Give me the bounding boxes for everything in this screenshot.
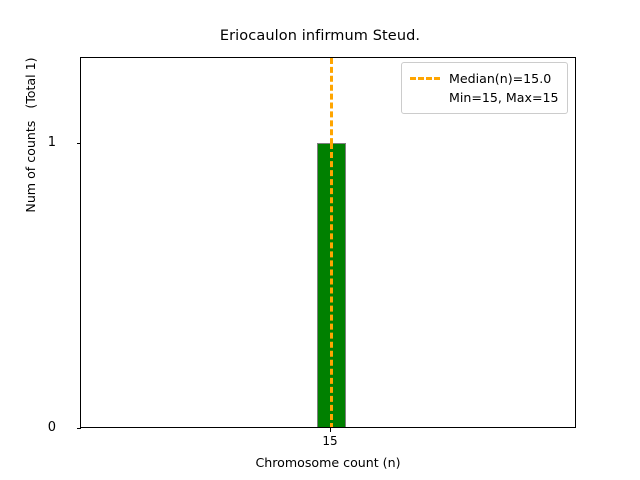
legend-dashed-line-icon xyxy=(410,77,440,80)
legend: Median(n)=15.0 Min=15, Max=15 xyxy=(401,62,568,114)
median-line-overlay xyxy=(330,143,333,428)
y-tick-label-1: 1 xyxy=(16,136,56,149)
legend-label-minmax: Min=15, Max=15 xyxy=(449,90,559,105)
legend-entry-minmax: Min=15, Max=15 xyxy=(410,88,559,107)
y-axis-label: Num of counts (Total 1) xyxy=(23,57,38,212)
legend-entry-median: Median(n)=15.0 xyxy=(410,69,559,88)
x-tick-mark-15 xyxy=(330,428,331,432)
legend-label-median: Median(n)=15.0 xyxy=(449,71,551,86)
x-tick-label-15: 15 xyxy=(300,434,360,448)
plot-area: Median(n)=15.0 Min=15, Max=15 xyxy=(80,57,576,428)
x-axis-label: Chromosome count (n) xyxy=(80,455,576,470)
chart-figure: Eriocaulon infirmum Steud. Num of counts… xyxy=(0,0,640,480)
chart-title: Eriocaulon infirmum Steud. xyxy=(0,28,640,44)
y-tick-label-0: 0 xyxy=(16,421,56,434)
